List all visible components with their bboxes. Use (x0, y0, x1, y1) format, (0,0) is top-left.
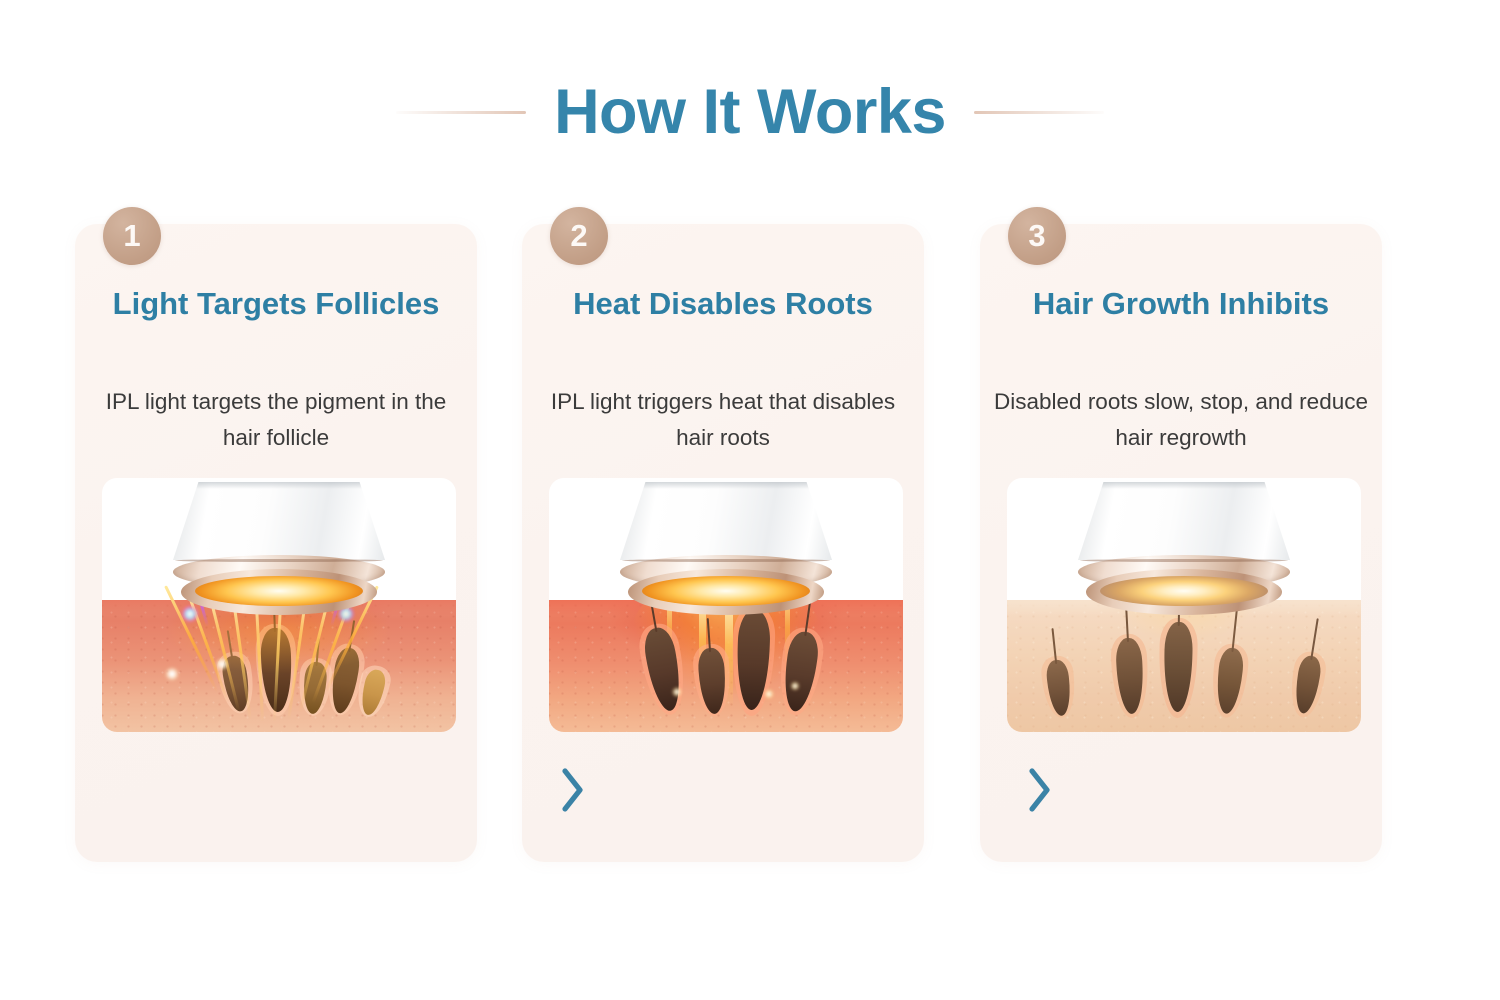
device-body (620, 482, 832, 560)
step-number-badge: 3 (1008, 207, 1066, 265)
device-skirt (628, 569, 824, 615)
illustration-scene (102, 478, 456, 732)
steps-container: 1 Light Targets Follicles IPL light targ… (75, 224, 1425, 864)
hair-follicle (735, 609, 771, 732)
step-number-badge: 1 (103, 207, 161, 265)
step-title: Light Targets Follicles (99, 282, 453, 326)
step-card-1[interactable]: 1 Light Targets Follicles IPL light targ… (75, 224, 477, 862)
device-light-aperture (195, 576, 363, 606)
follicle-bulb (302, 661, 328, 715)
device-skirt (1086, 569, 1282, 615)
step-illustration-2 (549, 478, 903, 732)
hair-follicle (1115, 637, 1146, 732)
title-rule-right-icon (974, 111, 1104, 114)
step-description: IPL light targets the pigment in the hai… (89, 384, 463, 455)
step-number-badge: 2 (550, 207, 608, 265)
device-light-aperture (1100, 576, 1268, 606)
step-description: Disabled roots slow, stop, and reduce ha… (994, 384, 1368, 455)
hair-follicle (697, 647, 729, 732)
title-rule-left-icon (396, 111, 526, 114)
device-skirt (181, 569, 377, 615)
device-light-aperture (642, 576, 810, 606)
hair-follicle (260, 627, 294, 732)
ipl-device-head (1078, 482, 1290, 615)
step-illustration-3 (1007, 478, 1361, 732)
page-title: How It Works (554, 81, 946, 144)
device-body (1078, 482, 1290, 560)
chevron-right-icon (560, 767, 586, 813)
illustration-scene (1007, 478, 1361, 732)
step-title: Heat Disables Roots (546, 282, 900, 326)
illustration-scene (549, 478, 903, 732)
device-body (173, 482, 385, 560)
page-header: How It Works (0, 62, 1500, 162)
ipl-device-head (620, 482, 832, 615)
step-title: Hair Growth Inhibits (1004, 282, 1358, 326)
step-description: IPL light triggers heat that disables ha… (536, 384, 910, 455)
hair-follicle (1163, 622, 1193, 732)
chevron-right-icon (1027, 767, 1053, 813)
step-illustration-1 (102, 478, 456, 732)
ipl-device-head (173, 482, 385, 615)
